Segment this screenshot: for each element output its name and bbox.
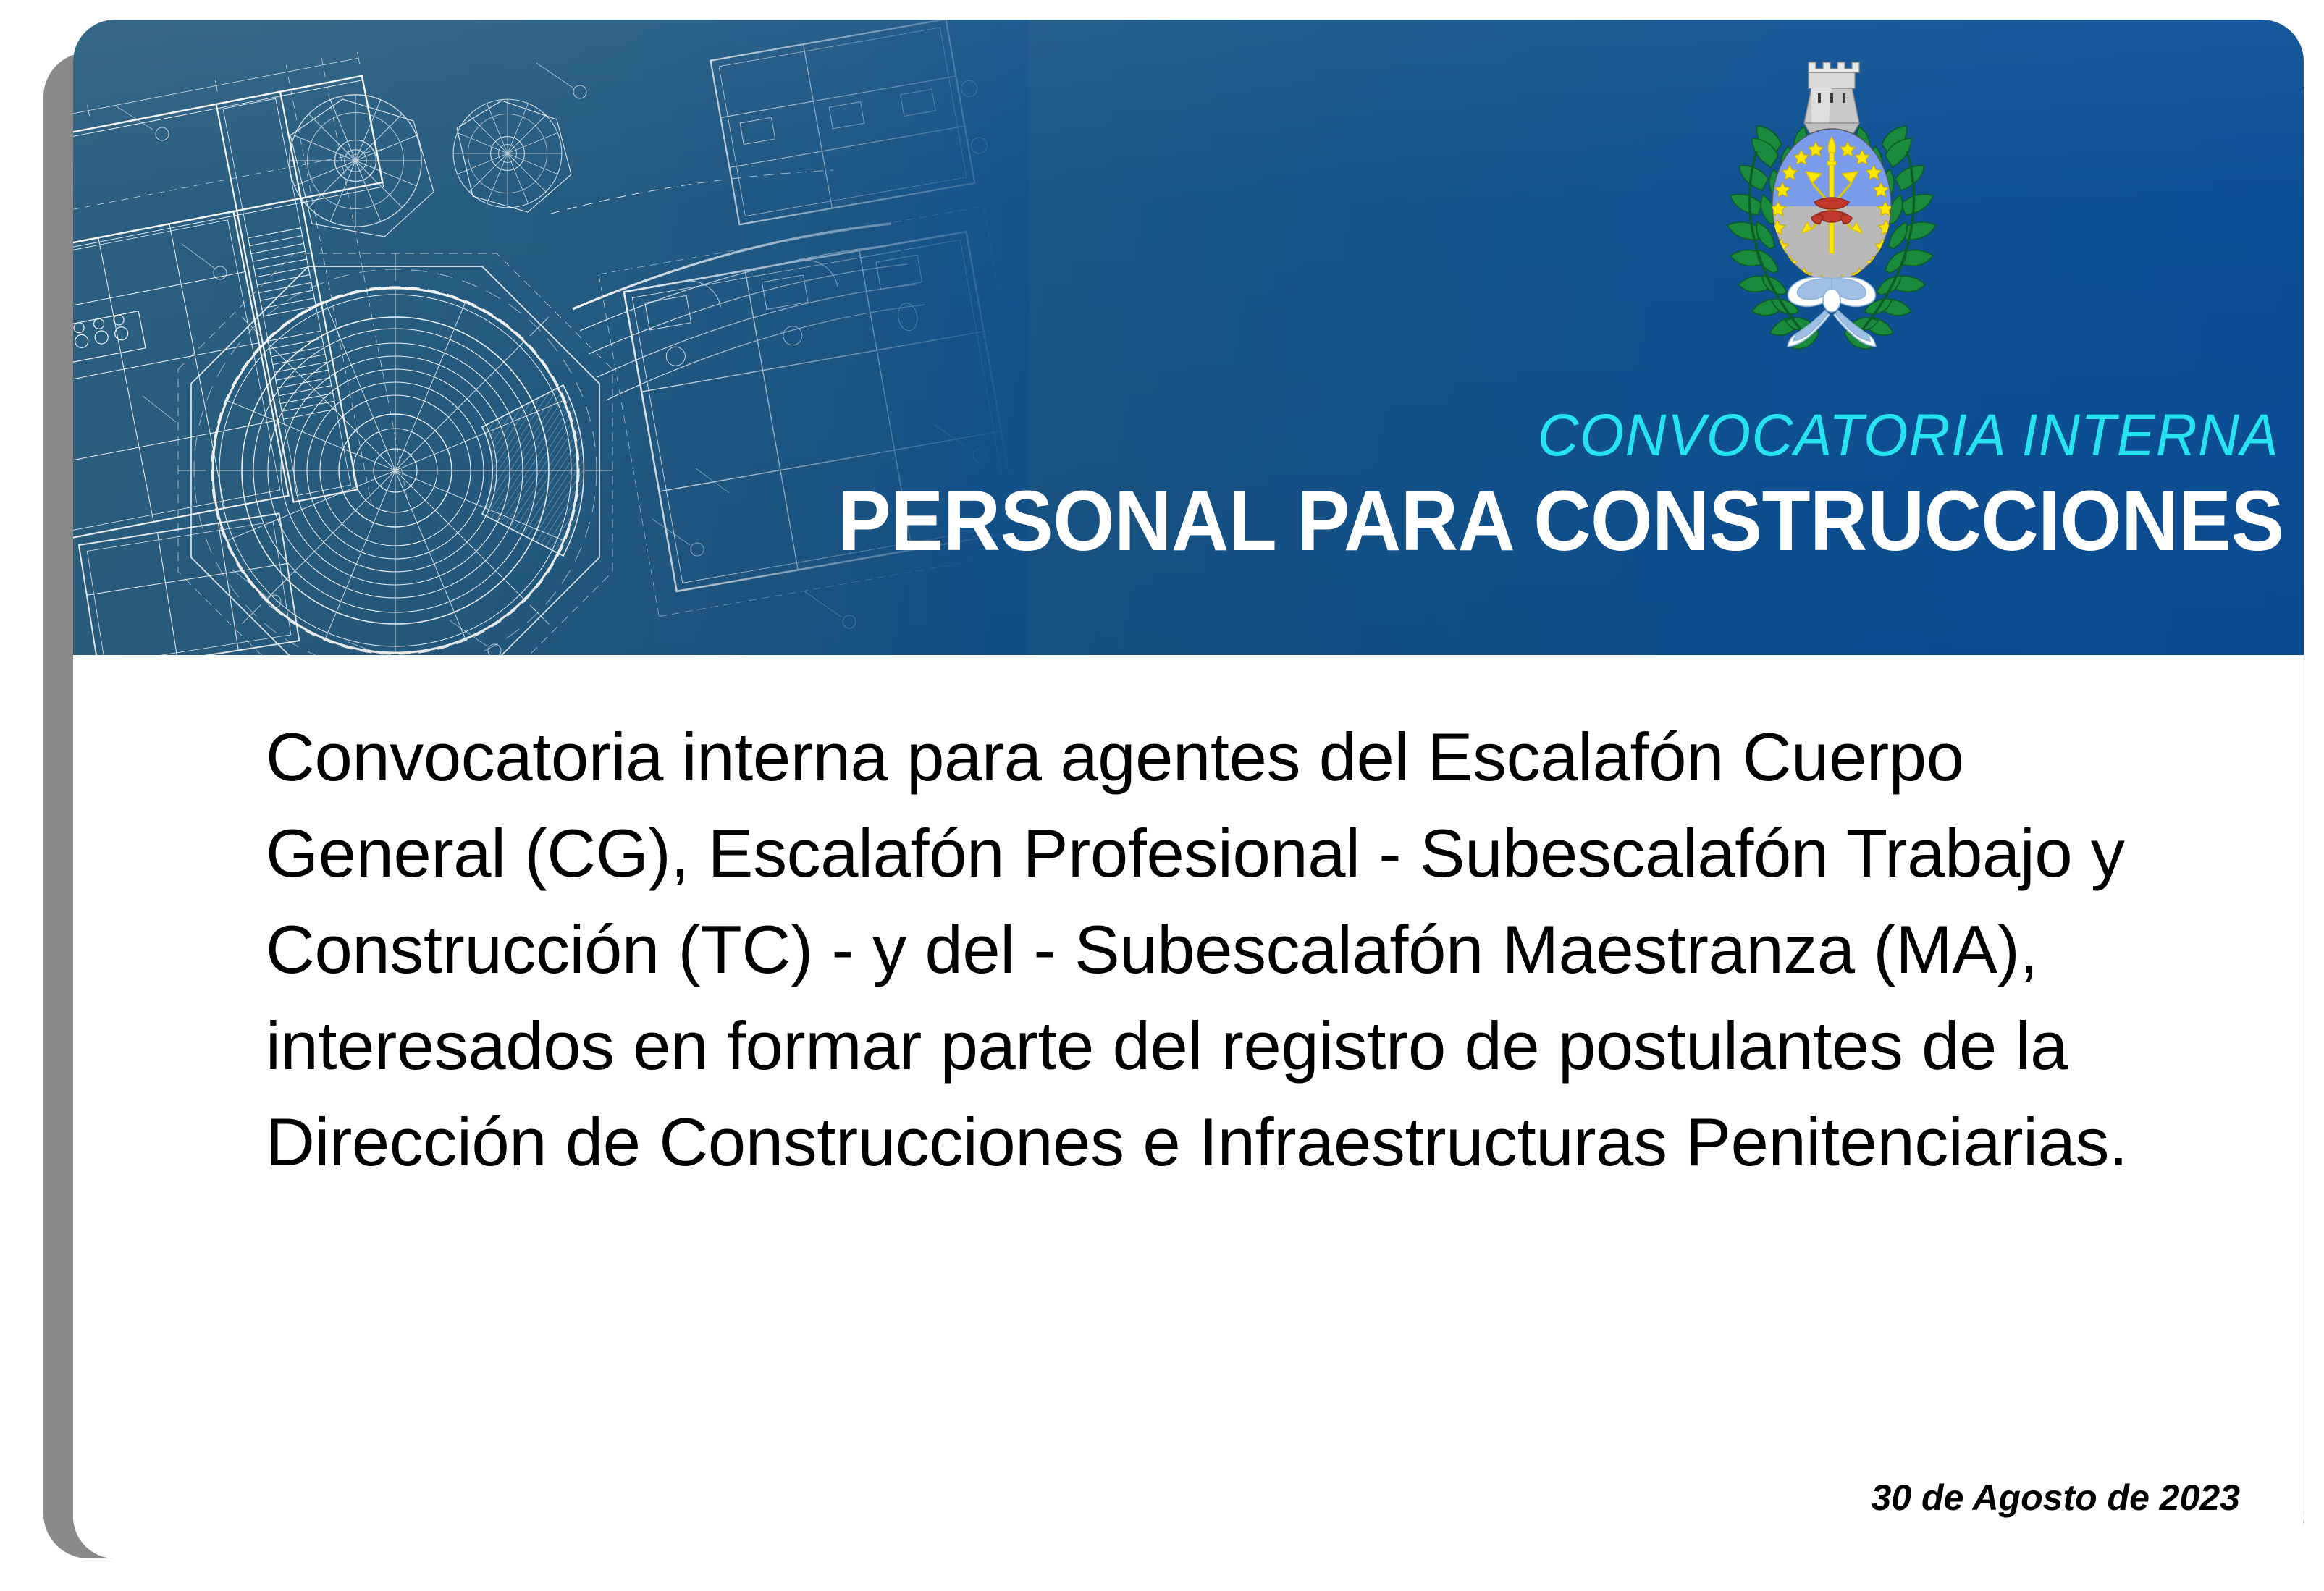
- header-kicker: CONVOCATORIA INTERNA: [1537, 406, 2279, 465]
- announcement-paragraph: Convocatoria interna para agentes del Es…: [266, 709, 2177, 1190]
- card-header-band: CONVOCATORIA INTERNA PERSONAL PARA CONST…: [73, 20, 2304, 655]
- poster-stage: CONVOCATORIA INTERNA PERSONAL PARA CONST…: [0, 0, 2324, 1591]
- card-body: Convocatoria interna para agentes del Es…: [73, 655, 2304, 1558]
- publication-date: 30 de Agosto de 2023: [1872, 1477, 2240, 1518]
- escudo-san-luis-icon: [1723, 40, 1940, 351]
- announcement-card: CONVOCATORIA INTERNA PERSONAL PARA CONST…: [73, 20, 2304, 1558]
- page-title: PERSONAL PARA CONSTRUCCIONES: [838, 478, 2283, 564]
